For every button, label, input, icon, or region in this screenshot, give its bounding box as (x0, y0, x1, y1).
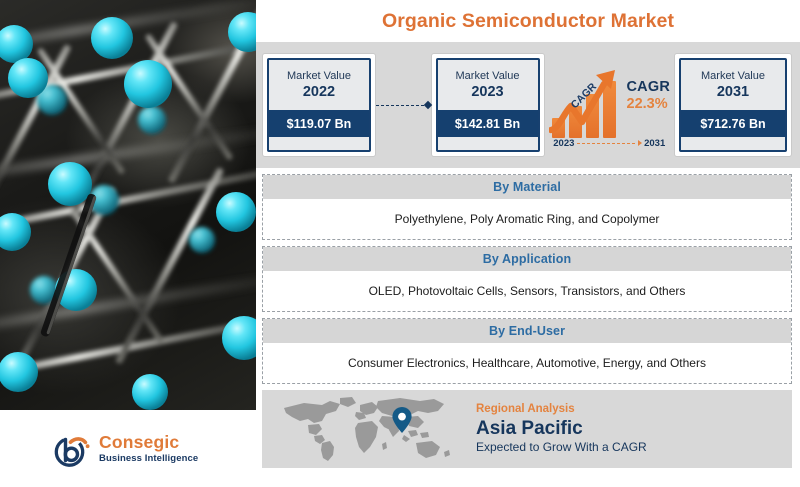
market-value-year: 2031 (683, 83, 783, 102)
market-value-strip: Market Value 2022 $119.07 Bn Market Valu… (256, 42, 800, 168)
market-value-card-2031: Market Value 2031 $712.76 Bn (674, 53, 792, 158)
left-image-panel: Consegic Business Intelligence (0, 0, 256, 487)
segment-items: OLED, Photovoltaic Cells, Sensors, Trans… (263, 271, 791, 311)
market-value-amount: $712.76 Bn (681, 110, 785, 137)
dashed-line (376, 105, 424, 106)
market-value-label: Market Value (683, 70, 783, 84)
cagr-percent: 22.3% (627, 96, 671, 113)
cagr-end-year: 2031 (644, 138, 665, 149)
card-footer-strip (681, 137, 785, 150)
axis-arrow-icon (638, 140, 642, 146)
segment-heading: By Application (263, 247, 791, 271)
cagr-row: CAGR CAGR 22.3% (549, 62, 671, 140)
logo-wordmark: Consegic Business Intelligence (99, 433, 198, 463)
segment-heading: By Material (263, 175, 791, 199)
cagr-figures: CAGR 22.3% (627, 79, 671, 121)
logo-name: Consegic (99, 433, 198, 451)
market-value-year: 2022 (271, 83, 367, 102)
content-panel: Organic Semiconductor Market Market Valu… (256, 0, 800, 487)
regional-analysis-wrapper: Regional Analysis Asia Pacific Expected … (256, 390, 800, 468)
market-value-amount: $119.07 Bn (269, 110, 369, 137)
market-value-label: Market Value (440, 70, 536, 84)
market-value-amount: $142.81 Bn (438, 110, 538, 137)
cagr-block: CAGR CAGR 22.3% 2023 2031 (545, 62, 675, 149)
market-value-year: 2023 (440, 83, 536, 102)
market-value-card-2023: Market Value 2023 $142.81 Bn (431, 53, 545, 158)
card-footer-strip (438, 137, 538, 150)
segment-by-end-user: By End-User Consumer Electronics, Health… (262, 318, 792, 384)
market-value-card-2022: Market Value 2022 $119.07 Bn (262, 53, 376, 158)
consegic-b-logo-icon (52, 429, 92, 469)
page-title: Organic Semiconductor Market (382, 10, 674, 33)
card-footer-strip (269, 137, 369, 150)
cagr-word: CAGR (627, 79, 671, 96)
connector-2022-2023 (376, 100, 431, 110)
cagr-bar-chart-icon: CAGR (549, 62, 625, 140)
region-subtitle: Expected to Grow With a CAGR (476, 440, 792, 456)
segment-items: Consumer Electronics, Healthcare, Automo… (263, 343, 791, 383)
regional-analysis-text: Regional Analysis Asia Pacific Expected … (472, 402, 792, 456)
world-map-graphic (262, 393, 472, 465)
segment-by-material: By Material Polyethylene, Poly Aromatic … (262, 174, 792, 240)
title-bar: Organic Semiconductor Market (256, 0, 800, 42)
segments-list: By Material Polyethylene, Poly Aromatic … (256, 168, 800, 384)
segment-heading: By End-User (263, 319, 791, 343)
axis-dashed-line (577, 143, 635, 144)
logo-tagline: Business Intelligence (99, 453, 198, 464)
market-value-label: Market Value (271, 70, 367, 84)
regional-analysis-kicker: Regional Analysis (476, 402, 792, 417)
region-name: Asia Pacific (476, 417, 792, 440)
infographic-root: Consegic Business Intelligence Organic S… (0, 0, 800, 487)
segment-items: Polyethylene, Poly Aromatic Ring, and Co… (263, 199, 791, 239)
molecular-lattice-image (0, 0, 256, 410)
regional-analysis-block: Regional Analysis Asia Pacific Expected … (262, 390, 792, 468)
segment-by-application: By Application OLED, Photovoltaic Cells,… (262, 246, 792, 312)
company-logo: Consegic Business Intelligence (0, 410, 256, 487)
